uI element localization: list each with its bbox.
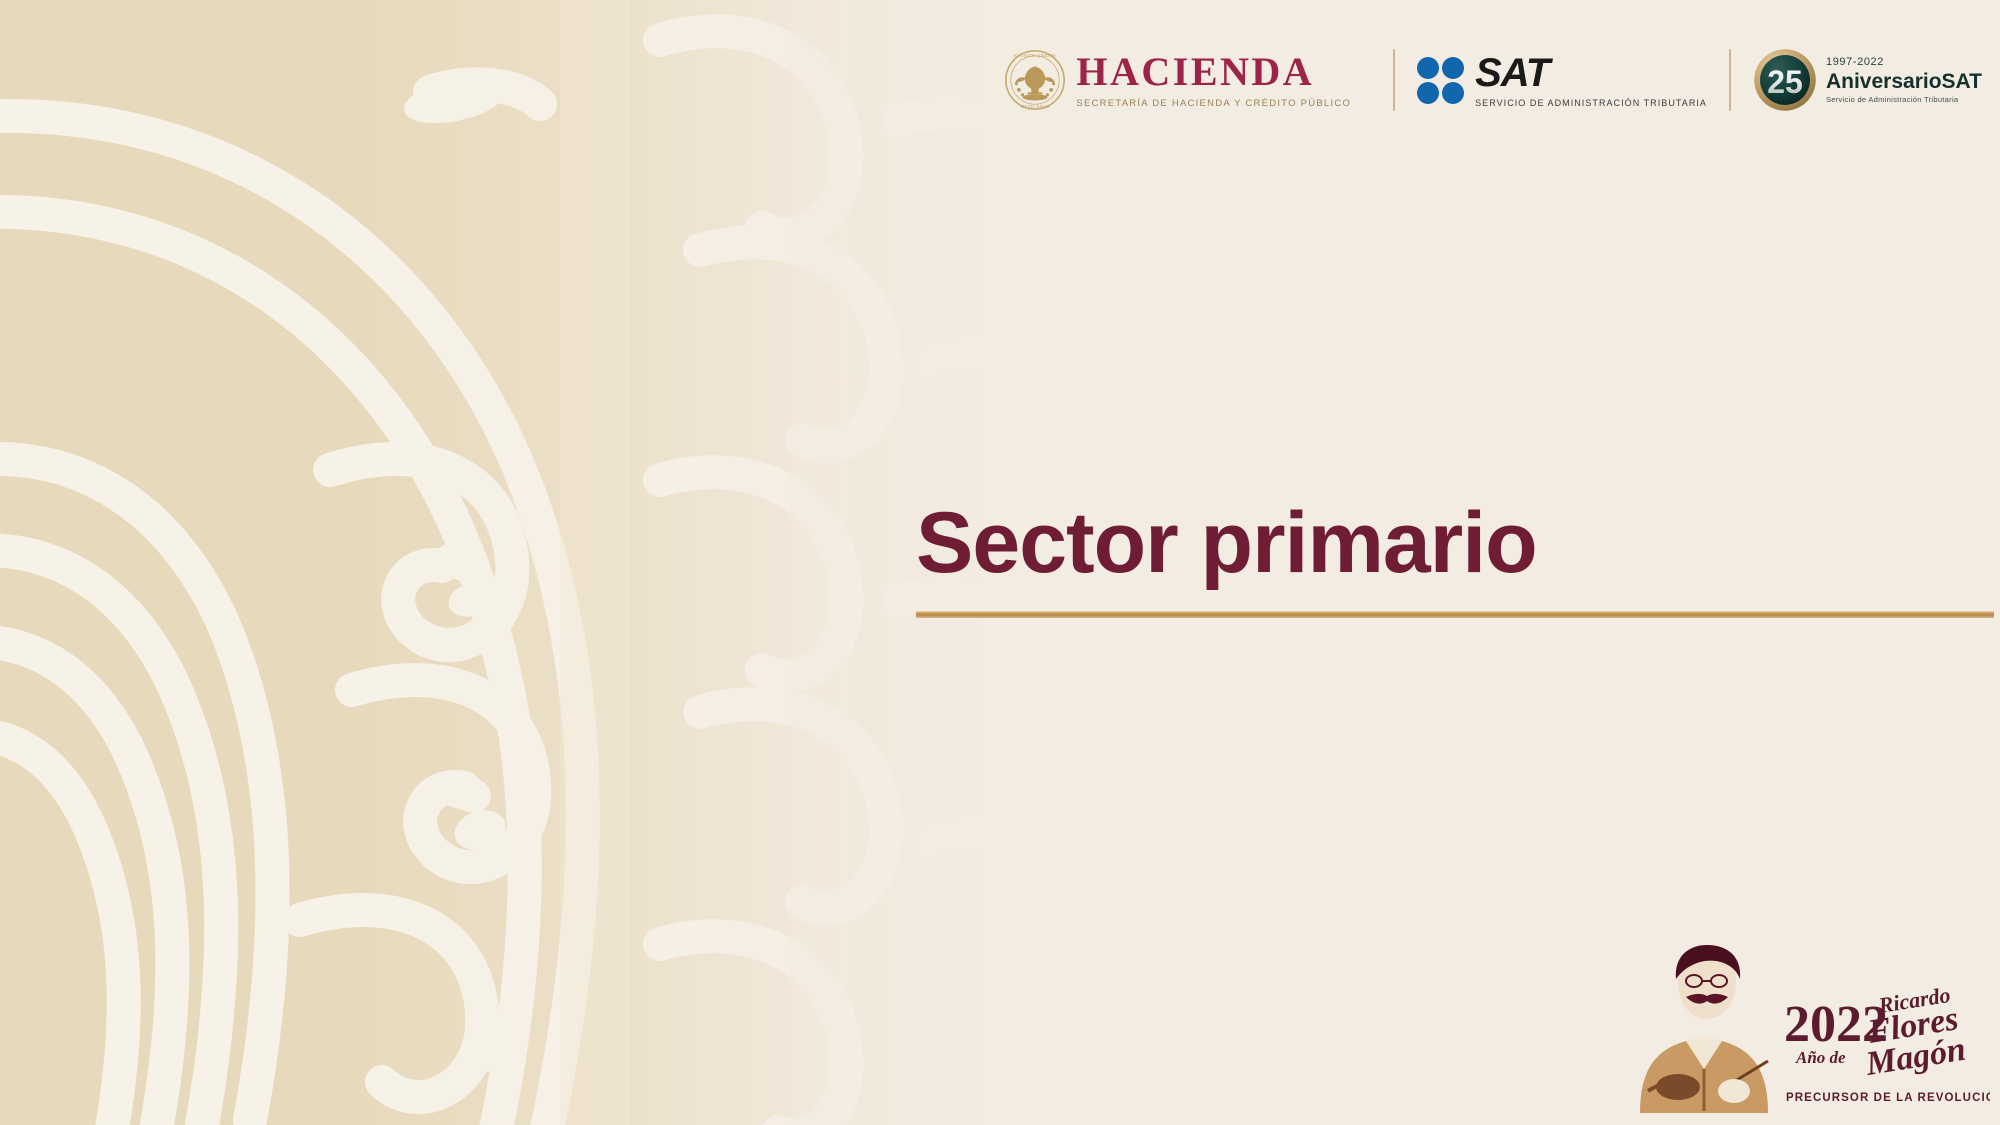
anniversary-subtitle: Servicio de Administración Tributaria [1826, 96, 1982, 104]
anniversary-logo: 25 1997-2022 AniversarioSAT Servicio de … [1753, 44, 1982, 116]
sat-four-dots-icon [1417, 57, 1464, 104]
mexican-coat-of-arms-seal-icon: ESTADOS UNIDOS MEXICANOS [1004, 49, 1066, 111]
title-block: Sector primario [916, 496, 1994, 618]
svg-text:MEXICANOS: MEXICANOS [1021, 104, 1050, 109]
sat-logo: SAT SERVICIO DE ADMINISTRACIÓN TRIBUTARI… [1417, 44, 1707, 116]
commemorative-tagline: PRECURSOR DE LA REVOLUCIÓN MEXICANA [1786, 1091, 1990, 1104]
anniversary-text-block: 1997-2022 AniversarioSAT Servicio de Adm… [1826, 57, 1982, 104]
anniversary-years: 1997-2022 [1826, 57, 1982, 68]
logo-divider-1 [1393, 49, 1395, 111]
header-logo-bar: ESTADOS UNIDOS MEXICANOS HACIENDA SECRET… [1004, 44, 1982, 116]
sat-subtitle: SERVICIO DE ADMINISTRACIÓN TRIBUTARIA [1475, 99, 1707, 108]
slide-canvas: ESTADOS UNIDOS MEXICANOS HACIENDA SECRET… [0, 0, 2000, 1125]
anniversary-wordmark: AniversarioSAT [1826, 71, 1982, 92]
commemorative-logo: 2022 Año de Ricardo Flores Magón PRECURS… [1618, 941, 1990, 1117]
svg-text:25: 25 [1767, 64, 1803, 100]
page-title: Sector primario [916, 496, 1994, 591]
svg-text:ESTADOS UNIDOS: ESTADOS UNIDOS [1014, 53, 1056, 58]
hacienda-logo: ESTADOS UNIDOS MEXICANOS HACIENDA SECRET… [1004, 44, 1371, 116]
hacienda-wordmark: HACIENDA [1076, 52, 1351, 92]
ricardo-flores-magon-portrait-icon [1640, 945, 1768, 1113]
25-anniversary-badge-icon: 25 [1753, 48, 1817, 112]
anniversary-main-text: Aniversario [1826, 70, 1942, 93]
hacienda-text-block: HACIENDA SECRETARÍA DE HACIENDA Y CRÉDIT… [1076, 52, 1351, 109]
commemorative-ano-de: Año de [1795, 1048, 1846, 1067]
anniversary-sat-text: SAT [1942, 70, 1982, 93]
title-underline-rule [916, 611, 1994, 618]
sat-wordmark: SAT [1475, 53, 1707, 93]
hacienda-subtitle: SECRETARÍA DE HACIENDA Y CRÉDITO PÚBLICO [1076, 99, 1351, 109]
logo-divider-2 [1729, 49, 1731, 111]
sat-text-block: SAT SERVICIO DE ADMINISTRACIÓN TRIBUTARI… [1475, 53, 1707, 108]
